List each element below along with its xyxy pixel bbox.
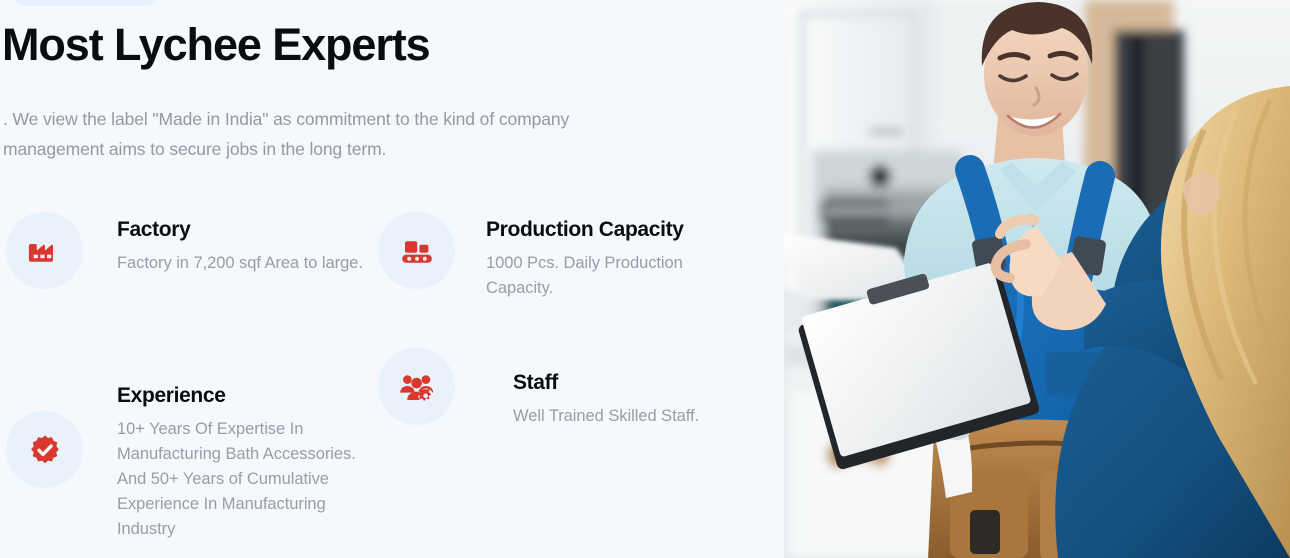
feature-description-factory: Factory in 7,200 sqf Area to large. xyxy=(117,251,377,276)
production-capacity-icon-circle xyxy=(378,212,455,289)
factory-icon-circle xyxy=(6,212,83,289)
factory-text-block: Factory Factory in 7,200 sqf Area to lar… xyxy=(117,212,377,276)
feature-title-experience: Experience xyxy=(117,382,367,409)
experience-text-block: Experience 10+ Years Of Expertise In Man… xyxy=(117,378,367,542)
factory-icon xyxy=(25,231,65,271)
feature-description-production-capacity: 1000 Pcs. Daily Production Capacity. xyxy=(486,251,736,301)
feature-title-production-capacity: Production Capacity xyxy=(486,216,736,243)
feature-title-staff: Staff xyxy=(513,369,763,396)
section-intro-text: . We view the label "Made in India" as c… xyxy=(3,104,643,164)
feature-item-staff: Staff Well Trained Skilled Staff. xyxy=(378,348,763,429)
production-capacity-icon xyxy=(397,231,437,271)
feature-description-experience: 10+ Years Of Expertise In Manufacturing … xyxy=(117,417,367,542)
production-capacity-text-block: Production Capacity 1000 Pcs. Daily Prod… xyxy=(486,212,736,301)
staff-icon-circle xyxy=(378,348,455,425)
eyebrow-badge xyxy=(12,0,160,6)
feature-title-factory: Factory xyxy=(117,216,377,243)
verified-badge-icon xyxy=(25,430,65,470)
experience-icon-circle xyxy=(6,411,83,488)
feature-item-experience: Experience 10+ Years Of Expertise In Man… xyxy=(6,378,367,542)
feature-description-staff: Well Trained Skilled Staff. xyxy=(513,404,763,429)
section-photo xyxy=(784,0,1290,558)
feature-item-factory: Factory Factory in 7,200 sqf Area to lar… xyxy=(6,212,377,289)
staff-text-block: Staff Well Trained Skilled Staff. xyxy=(513,348,763,429)
about-section: Most Lychee Experts . We view the label … xyxy=(0,0,1290,558)
page-title: Most Lychee Experts xyxy=(2,17,430,73)
staff-group-gear-icon xyxy=(397,367,437,407)
content-column: Most Lychee Experts . We view the label … xyxy=(0,0,784,558)
feature-item-production-capacity: Production Capacity 1000 Pcs. Daily Prod… xyxy=(378,212,736,301)
